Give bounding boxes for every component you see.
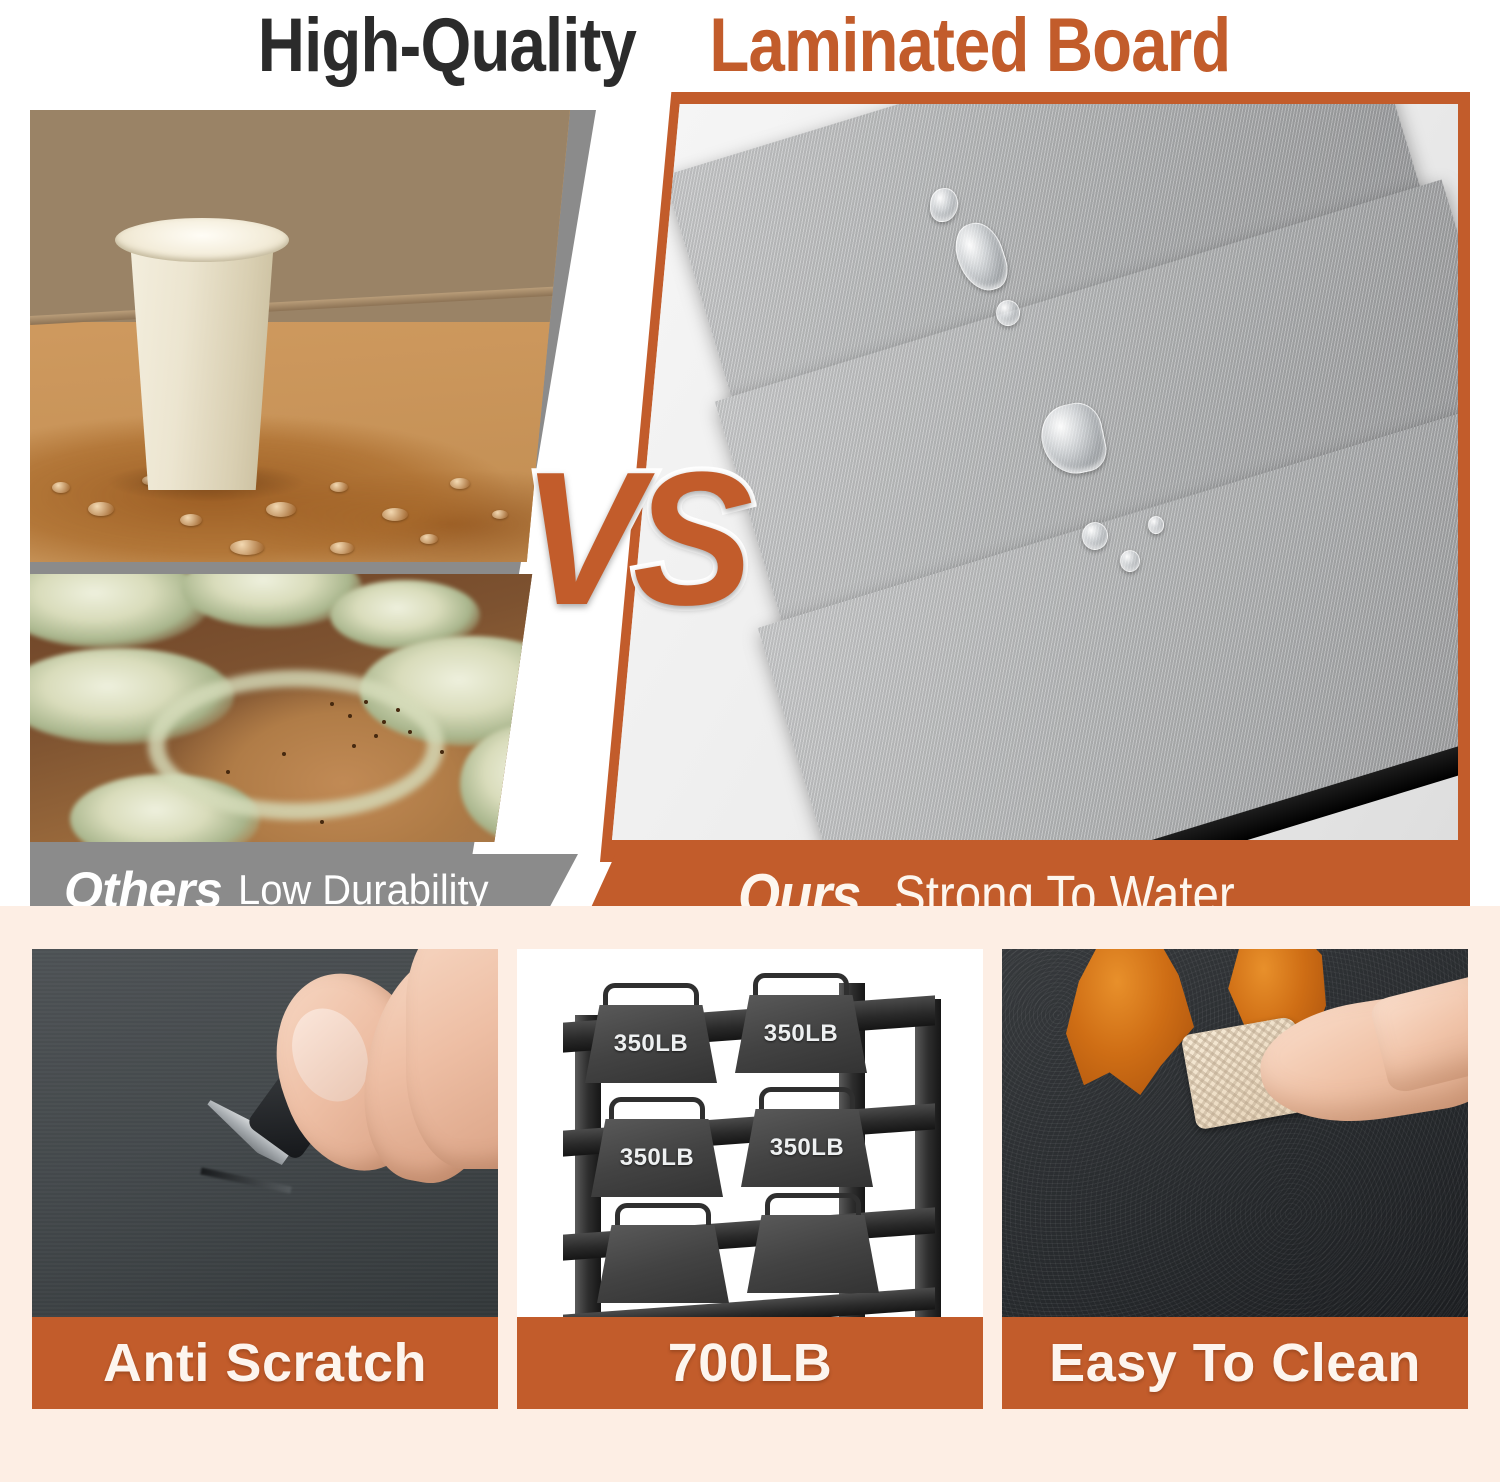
water-droplet <box>1120 550 1140 572</box>
weight-block: 350LB <box>735 995 867 1073</box>
feature-caption-anti-scratch: Anti Scratch <box>32 1317 498 1409</box>
key-scratching-board-surface-image <box>32 949 498 1317</box>
feature-label: Anti Scratch <box>103 1332 427 1394</box>
comparison-section: Others Low Durability Ours Strong To Wat… <box>0 92 1500 882</box>
weight-handle <box>753 973 849 997</box>
feature-caption-700lb: 700LB <box>517 1317 983 1409</box>
coffee-droplets <box>30 110 570 562</box>
coffee-spill-on-desk-image <box>30 110 570 562</box>
water-droplet <box>1082 522 1108 550</box>
feature-caption-easy-to-clean: Easy To Clean <box>1002 1317 1468 1409</box>
weight-block <box>747 1215 879 1293</box>
weight-label: 350LB <box>770 1134 845 1162</box>
shelf-post-right <box>915 999 941 1317</box>
page-title-part-1: High-Quality <box>258 8 636 84</box>
weight-handle <box>759 1087 855 1111</box>
weight-block: 350LB <box>585 1005 717 1083</box>
paper-cup <box>123 230 281 490</box>
page-title: High-Quality Laminated Board <box>0 0 1500 92</box>
weight-block <box>597 1225 729 1303</box>
weight-label: 350LB <box>614 1030 689 1058</box>
weight-handle <box>609 1097 705 1121</box>
features-section: Anti Scratch 350LB 350LB <box>0 906 1500 1482</box>
page-title-part-2: Laminated Board <box>709 8 1230 84</box>
weight-block: 350LB <box>741 1109 873 1187</box>
weight-block: 350LB <box>591 1119 723 1197</box>
hand-wiping-spill-with-cloth-image <box>1002 949 1468 1317</box>
feature-label: 700LB <box>668 1332 833 1394</box>
feature-card-anti-scratch: Anti Scratch <box>32 949 498 1409</box>
feature-label: Easy To Clean <box>1049 1332 1421 1394</box>
feature-card-easy-to-clean: Easy To Clean <box>1002 949 1468 1409</box>
weight-handle <box>603 983 699 1007</box>
weight-handle <box>765 1193 861 1217</box>
paper-cup-rim <box>115 218 289 262</box>
mold-growth-on-board-image <box>30 574 570 842</box>
mold-specks <box>30 574 570 842</box>
weight-label: 350LB <box>764 1020 839 1048</box>
weight-handle <box>615 1203 711 1227</box>
shelving-unit-with-weights-image: 350LB 350LB 350LB 350LB <box>517 949 983 1317</box>
vs-badge: VS <box>522 444 744 634</box>
water-droplet <box>1148 516 1164 534</box>
water-droplet <box>996 300 1020 326</box>
weight-label: 350LB <box>620 1144 695 1172</box>
feature-card-700lb: 350LB 350LB 350LB 350LB 700LB <box>517 949 983 1409</box>
